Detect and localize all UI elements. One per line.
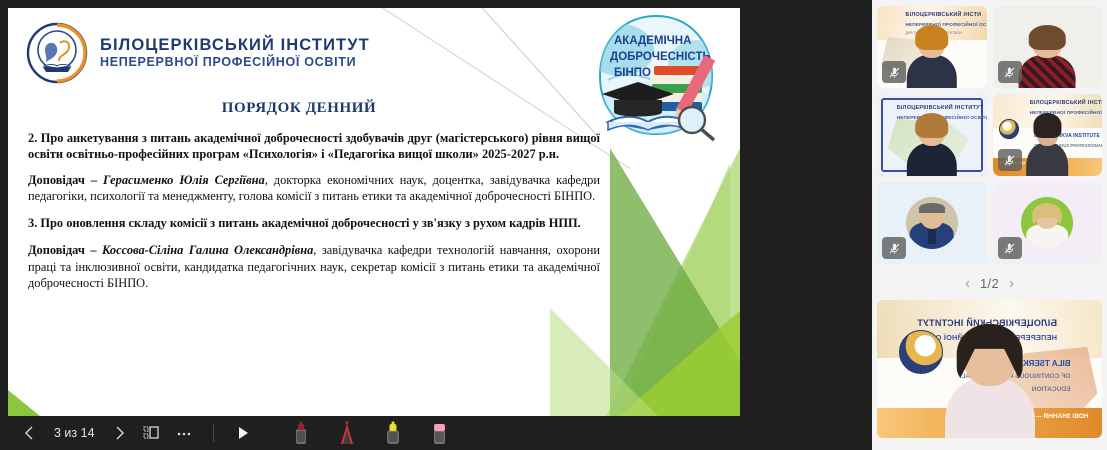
active-speaker-figure: [945, 330, 1035, 438]
agenda-item-3-lead: 3.: [28, 216, 37, 230]
tile-1-bg-line1: БІЛОЦЕРКІВСЬКИЙ ІНСТИ: [905, 12, 981, 18]
participant-figure: [907, 117, 957, 176]
pager-next-button[interactable]: ›: [1009, 276, 1014, 291]
tile-4-bg-line1: БІЛОЦЕРКІВСЬКИЙ ІНСТИТ: [1030, 100, 1102, 106]
participant-tile-6[interactable]: [993, 182, 1103, 264]
agenda-item-2: 2. Про анкетування з питань академічної …: [28, 130, 600, 163]
green-triangle-2: [610, 148, 740, 416]
participant-figure: [907, 29, 957, 88]
next-slide-button[interactable]: [105, 420, 135, 446]
institute-logo-text: БІЛОЦЕРКІВСЬКИЙ ІНСТИТУТ НЕПЕРЕРВНОЇ ПРО…: [100, 36, 370, 70]
participant-tile-3[interactable]: БІЛОЦЕРКІВСЬКИЙ ІНСТИТУТ НЕПЕРЕРВНОЇ ПРО…: [877, 94, 987, 176]
laser-pointer-icon: [235, 425, 251, 441]
participant-tile-4[interactable]: БІЛОЦЕРКІВСЬКИЙ ІНСТИТ НЕПЕРЕРВНОЇ ПРОФЕ…: [993, 94, 1103, 176]
mic-muted-badge[interactable]: [998, 237, 1022, 259]
avatar: [1021, 197, 1073, 249]
speaker-3-lead: Доповідач –: [28, 243, 102, 257]
speaker-2-name: Герасименко Юлія Сергіївна: [103, 173, 265, 187]
institute-emblem-icon: [26, 22, 88, 84]
pen-tool-red[interactable]: [334, 420, 360, 446]
mic-muted-icon: [1003, 66, 1016, 79]
speaker-3-name: Коссова-Сіліна Галина Олександрівна: [102, 243, 313, 257]
emblem-line1: АКАДЕМІЧНА: [614, 35, 691, 47]
participant-figure: [1026, 117, 1068, 176]
mic-muted-icon: [888, 242, 901, 255]
tile-3-bg-line1: БІЛОЦЕРКІВСЬКИЙ ІНСТИТУТ: [897, 105, 984, 111]
institute-name-line2: НЕПЕРЕРВНОЇ ПРОФЕСІЙНОЇ ОСВІТИ: [100, 55, 370, 70]
mic-muted-badge[interactable]: [882, 237, 906, 259]
presentation-toolbar: 3 из 14: [0, 416, 872, 450]
speaker-item-3: Доповідач – Коссова-Сіліна Галина Олекса…: [28, 242, 600, 291]
laser-pointer-button[interactable]: [228, 420, 258, 446]
toolbar-separator: [213, 424, 214, 442]
institute-name-line1: БІЛОЦЕРКІВСЬКИЙ ІНСТИТУТ: [100, 36, 370, 55]
speaker-item-2: Доповідач – Герасименко Юлія Сергіївна, …: [28, 172, 600, 205]
highlighter-tool-pink[interactable]: [426, 420, 452, 446]
pen-tool-dark-red[interactable]: [288, 420, 314, 446]
more-options-button[interactable]: [169, 420, 199, 446]
chevron-left-icon: [22, 425, 36, 441]
slide-body: 2. Про анкетування з питань академічної …: [28, 130, 600, 302]
more-options-icon: [175, 425, 193, 441]
emblem-line3: БІНПО: [614, 67, 651, 79]
participant-pager: ‹ 1/2 ›: [877, 268, 1102, 298]
speaker-bg-en3: EDUCATION: [1032, 386, 1071, 393]
green-triangle-5: [550, 308, 680, 416]
green-corner-accent: [8, 390, 40, 416]
mic-muted-icon: [888, 66, 901, 79]
green-triangle-1: [600, 128, 740, 416]
mic-muted-icon: [1003, 154, 1016, 167]
active-speaker-tile[interactable]: БІЛОЦЕРКІВСЬКИЙ ІНСТИТУТ НЕПЕРЕРВНОЇ ПРО…: [877, 300, 1102, 438]
agenda-item-2-lead: 2.: [28, 131, 37, 145]
mic-muted-icon: [1003, 242, 1016, 255]
participant-figure: [1019, 29, 1076, 88]
agenda-item-3: 3. Про оновлення складу комісії з питань…: [28, 215, 600, 231]
participant-rail: БІЛОЦЕРКІВСЬКИЙ ІНСТИ НЕПЕРЕРВНОЇ ПРОФЕС…: [872, 0, 1107, 450]
academic-integrity-emblem-icon: АКАДЕМІЧНА ДОБРОЧЕСНІСТЬ БІНПО: [580, 10, 732, 160]
highlighter-tool-yellow[interactable]: [380, 420, 406, 446]
slide-thumbnails-button[interactable]: [137, 420, 167, 446]
mic-muted-badge[interactable]: [998, 149, 1022, 171]
participant-tile-5[interactable]: [877, 182, 987, 264]
mic-muted-badge[interactable]: [998, 61, 1022, 83]
meeting-window: БІЛОЦЕРКІВСЬКИЙ ІНСТИТУТ НЕПЕРЕРВНОЇ ПРО…: [0, 0, 1107, 450]
pager-count: 1/2: [980, 276, 999, 291]
green-triangle-4: [600, 258, 740, 416]
slide-canvas[interactable]: БІЛОЦЕРКІВСЬКИЙ ІНСТИТУТ НЕПЕРЕРВНОЇ ПРО…: [8, 8, 740, 416]
slide-counter: 3 из 14: [46, 426, 103, 440]
previous-slide-button[interactable]: [14, 420, 44, 446]
slide-title: ПОРЯДОК ДЕННИЙ: [8, 100, 590, 117]
institute-logo: БІЛОЦЕРКІВСЬКИЙ ІНСТИТУТ НЕПЕРЕРВНОЇ ПРО…: [26, 22, 370, 84]
participant-tile-2[interactable]: [993, 6, 1103, 88]
green-triangle-3: [610, 163, 730, 416]
emblem-line2: ДОБРОЧЕСНІСТЬ: [610, 51, 711, 63]
agenda-item-3-text: Про оновлення складу комісії з питань ак…: [37, 216, 580, 230]
avatar: [906, 197, 958, 249]
shared-presentation-stage: БІЛОЦЕРКІВСЬКИЙ ІНСТИТУТ НЕПЕРЕРВНОЇ ПРО…: [0, 0, 872, 450]
mic-muted-badge[interactable]: [882, 61, 906, 83]
decor-hairline-1: [385, 8, 600, 139]
participant-grid: БІЛОЦЕРКІВСЬКИЙ ІНСТИ НЕПЕРЕРВНОЇ ПРОФЕС…: [877, 6, 1102, 264]
speaker-2-lead: Доповідач –: [28, 173, 103, 187]
pager-previous-button[interactable]: ‹: [965, 276, 970, 291]
tile-1-bg-line2: НЕПЕРЕРВНОЇ ПРОФЕСІЙНОЇ ОС: [905, 22, 986, 27]
agenda-item-2-text: Про анкетування з питань академічної доб…: [28, 131, 600, 161]
participant-tile-1[interactable]: БІЛОЦЕРКІВСЬКИЙ ІНСТИ НЕПЕРЕРВНОЇ ПРОФЕС…: [877, 6, 987, 88]
chevron-right-icon: [113, 425, 127, 441]
slide-thumbnails-icon: [143, 425, 160, 441]
